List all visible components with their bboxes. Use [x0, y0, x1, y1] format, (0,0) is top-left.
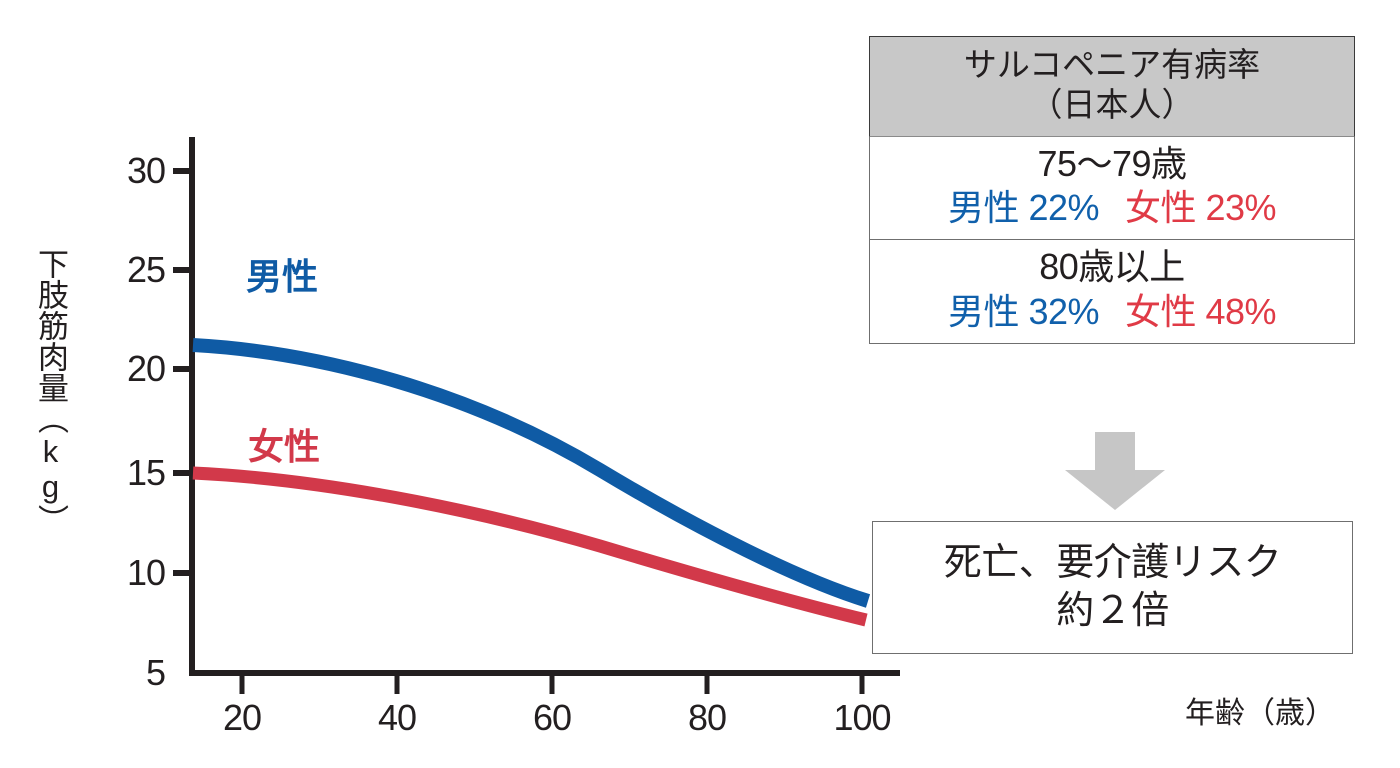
panel-header: サルコペニア有病率 （日本人）	[869, 36, 1355, 137]
x-tick-label-20: 20	[187, 697, 297, 739]
panel-row-80-plus: 80歳以上 男性 32%女性 48%	[869, 240, 1355, 344]
result-line-1: 死亡、要介護リスク	[944, 540, 1282, 587]
female-prevalence-value: 女性 48%	[1125, 291, 1276, 332]
age-range-label: 75〜79歳	[870, 143, 1354, 185]
y-tick-label-15: 15	[95, 452, 165, 494]
arrow-container	[869, 428, 1355, 512]
x-tick-label-40: 40	[342, 697, 452, 739]
male-prevalence-value: 男性 22%	[948, 187, 1099, 228]
series-label-male: 男性	[246, 248, 318, 300]
y-tick-label-30: 30	[95, 150, 165, 192]
panel-header-line2: （日本人）	[870, 85, 1354, 125]
result-box: 死亡、要介護リスク 約２倍	[872, 521, 1353, 654]
age-range-label: 80歳以上	[870, 246, 1354, 288]
y-tick-label-5: 5	[95, 652, 165, 694]
female-prevalence-value: 女性 23%	[1125, 187, 1276, 228]
y-axis-title: 下肢筋肉量（kg）	[12, 248, 66, 528]
down-arrow-icon	[869, 428, 1355, 512]
x-tick-label-60: 60	[497, 697, 607, 739]
male-prevalence-value: 男性 32%	[948, 291, 1099, 332]
prevalence-values: 男性 32%女性 48%	[870, 290, 1354, 333]
x-tick-label-100: 100	[807, 697, 917, 739]
y-tick-label-20: 20	[95, 348, 165, 390]
prevalence-values: 男性 22%女性 23%	[870, 186, 1354, 229]
x-tick-marks	[242, 673, 862, 694]
chart-area: 30 25 20 15 10 5 20 40 60 80 100 下肢筋肉量（k…	[0, 0, 900, 768]
figure-root: 30 25 20 15 10 5 20 40 60 80 100 下肢筋肉量（k…	[0, 0, 1400, 768]
series-line-male	[193, 345, 868, 601]
y-tick-label-25: 25	[95, 249, 165, 291]
x-tick-label-80: 80	[652, 697, 762, 739]
series-line-female	[193, 473, 866, 620]
prevalence-panel: サルコペニア有病率 （日本人） 75〜79歳 男性 22%女性 23% 80歳以…	[869, 36, 1355, 344]
panel-header-line1: サルコペニア有病率	[870, 45, 1354, 85]
panel-row-75-79: 75〜79歳 男性 22%女性 23%	[869, 137, 1355, 241]
result-line-2: 約２倍	[1056, 588, 1169, 635]
x-axis-title: 年齢（歳）	[1185, 688, 1335, 732]
series-label-female: 女性	[248, 418, 320, 470]
y-tick-label-10: 10	[95, 552, 165, 594]
